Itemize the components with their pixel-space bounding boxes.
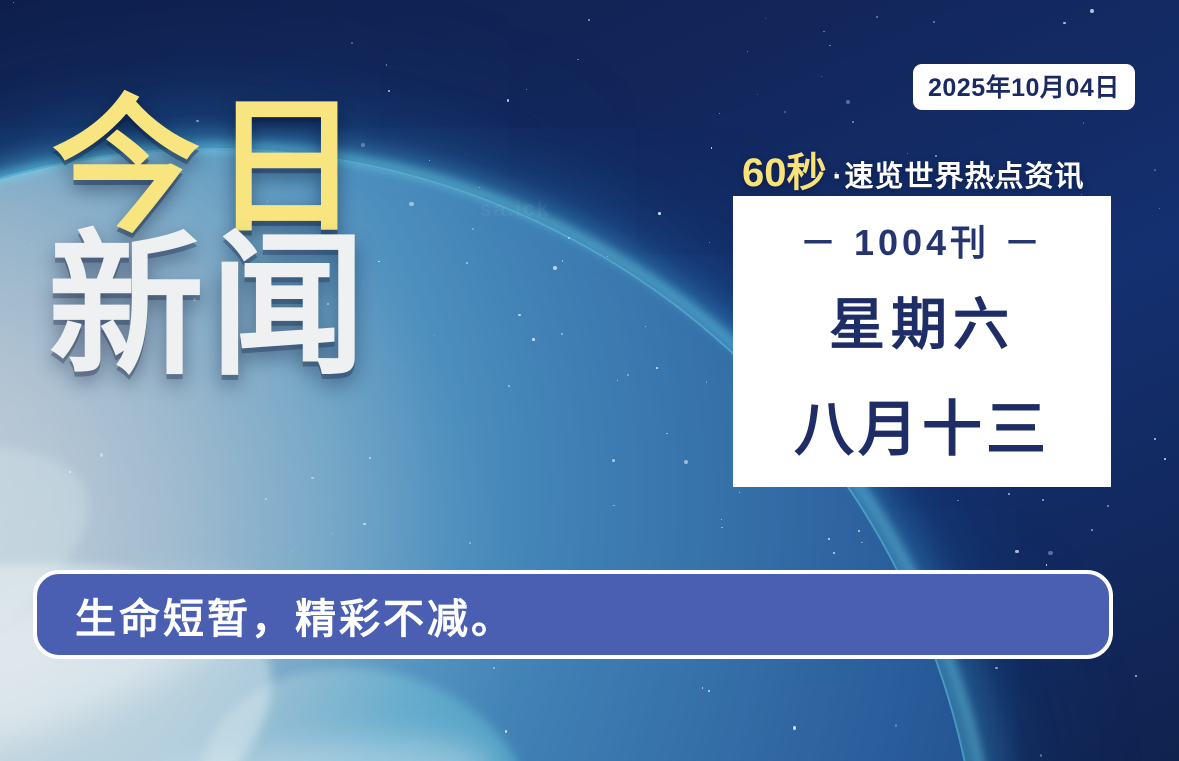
slogan-banner: 生命短暂，精彩不减。 xyxy=(33,570,1113,659)
weekday-label: 星期六 xyxy=(733,280,1111,361)
title-line-news: 新闻 xyxy=(48,228,472,387)
date-badge: 2025年10月04日 xyxy=(913,64,1135,110)
issue-number: － 1004刊 － xyxy=(733,214,1111,266)
tagline-separator: · xyxy=(833,160,843,193)
tagline: 60秒·速览世界热点资讯 xyxy=(742,140,1085,198)
page-title: 今日 新闻 xyxy=(52,96,472,387)
lunar-date-label: 八月十三 xyxy=(733,381,1111,468)
background-watermark: sa.ick xyxy=(480,198,550,222)
slogan-text: 生命短暂，精彩不减。 xyxy=(75,585,515,645)
info-card: － 1004刊 － 星期六 八月十三 xyxy=(733,196,1111,487)
news-poster: sa.ick 今日 新闻 2025年10月04日 60秒·速览世界热点资讯 － … xyxy=(0,0,1179,761)
tagline-text: 速览世界热点资讯 xyxy=(845,161,1085,193)
tagline-seconds: 60秒 xyxy=(742,151,827,195)
title-line-today: 今日 xyxy=(52,96,472,240)
